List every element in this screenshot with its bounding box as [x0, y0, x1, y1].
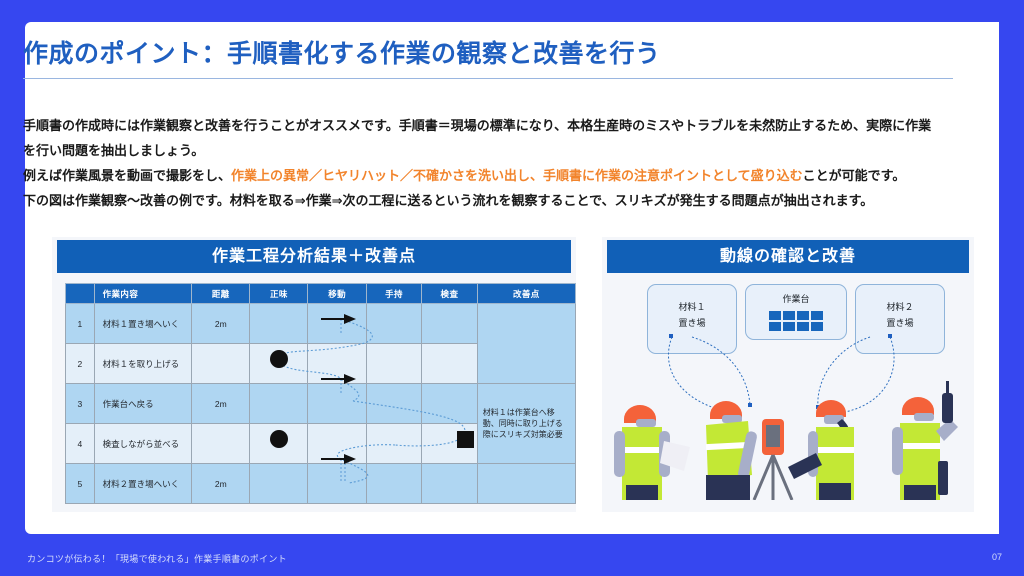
cell-inspect — [422, 424, 477, 464]
title-divider — [23, 78, 953, 79]
cell-task: 材料２置き場へいく — [94, 464, 192, 504]
process-analysis-table: 作業内容 距離 正味 移動 手持 検査 改善点 1 材料１置き場へいく 2m — [65, 283, 576, 504]
table-row: 1 材料１置き場へいく 2m — [66, 304, 576, 344]
cell-inspect — [422, 464, 477, 504]
cell-move — [308, 304, 366, 344]
cell-hold — [366, 384, 421, 424]
cell-hold — [366, 424, 421, 464]
paragraph-3: 例えば作業風景を動画で撮影をし、作業上の異常／ヒヤリハット／不確かさを洗い出し、… — [23, 163, 959, 188]
slide-root: 作成のポイント：手順書化する作業の観察と改善を行う 手順書の作成時には作業観察と… — [0, 0, 1024, 576]
worker-with-radio-icon — [892, 381, 958, 500]
movement-node — [888, 334, 892, 338]
table-header-row: 作業内容 距離 正味 移動 手持 検査 改善点 — [66, 284, 576, 304]
cell-move — [308, 464, 366, 504]
cell-net — [250, 464, 308, 504]
footer-title: カンコツが伝わる！「現場で使われる」作業手順書のポイント — [27, 552, 287, 565]
cell-move — [308, 424, 366, 464]
cell-no: 5 — [66, 464, 95, 504]
page-title: 作成のポイント：手順書化する作業の観察と改善を行う — [23, 38, 953, 72]
cell-move — [308, 384, 366, 424]
col-inspect: 検査 — [422, 284, 477, 304]
cell-no: 3 — [66, 384, 95, 424]
col-improvement: 改善点 — [477, 284, 575, 304]
paragraph-2: を行い問題を抽出しましょう。 — [23, 138, 959, 163]
cell-task: 検査しながら並べる — [94, 424, 192, 464]
footer-page-number: 07 — [992, 552, 1002, 562]
worker-with-tablet-icon — [788, 400, 854, 500]
panel-process-analysis: 作業工程分析結果＋改善点 作業内容 距離 正味 移動 手持 検査 改善点 1 材… — [52, 237, 576, 512]
cell-distance: 2m — [192, 304, 250, 344]
cell-net — [250, 304, 308, 344]
page-title-block: 作成のポイント：手順書化する作業の観察と改善を行う — [23, 38, 953, 79]
cell-distance: 2m — [192, 464, 250, 504]
worker-surveying-icon — [706, 401, 792, 500]
col-no — [66, 284, 95, 304]
cell-distance — [192, 344, 250, 384]
panel-process-analysis-heading: 作業工程分析結果＋改善点 — [57, 240, 571, 273]
cell-no: 4 — [66, 424, 95, 464]
col-move: 移動 — [308, 284, 366, 304]
workers-illustration — [602, 375, 974, 500]
paragraph-3-highlight: 作業上の異常／ヒヤリハット／不確かさを洗い出し、手順書に作業の注意ポイントとして… — [231, 168, 803, 183]
table-row: 5 材料２置き場へいく 2m — [66, 464, 576, 504]
col-net: 正味 — [250, 284, 308, 304]
col-task: 作業内容 — [94, 284, 192, 304]
cell-improvement — [477, 304, 575, 384]
paragraph-3-pre: 例えば作業風景を動画で撮影をし、 — [23, 168, 231, 183]
cell-task: 作業台へ戻る — [94, 384, 192, 424]
cell-hold — [366, 344, 421, 384]
cell-no: 2 — [66, 344, 95, 384]
cell-move — [308, 344, 366, 384]
paragraph-4: 下の図は作業観察〜改善の例です。材料を取る⇒作業⇒次の工程に送るという流れを観察… — [23, 188, 959, 213]
table-body: 1 材料１置き場へいく 2m 2 材料１を取り上げる — [66, 304, 576, 504]
cell-inspect — [422, 384, 477, 424]
paragraph-1: 手順書の作成時には作業観察と改善を行うことがオススメです。手順書＝現場の標準にな… — [23, 113, 959, 138]
cell-distance — [192, 424, 250, 464]
cell-hold — [366, 304, 421, 344]
cell-net — [250, 344, 308, 384]
col-distance: 距離 — [192, 284, 250, 304]
panel-flow-line: 動線の確認と改善 材料１ 置き場 作業台 材料２ 置き場 — [602, 237, 974, 512]
table-row: 3 作業台へ戻る 2m 材料１は作業台へ移動、同時に取り上げる際にスリキズ対策必… — [66, 384, 576, 424]
cell-improvement: 材料１は作業台へ移動、同時に取り上げる際にスリキズ対策必要 — [477, 384, 575, 464]
paragraph-3-post: ことが可能です。 — [803, 168, 906, 183]
cell-net — [250, 384, 308, 424]
cell-task: 材料１置き場へいく — [94, 304, 192, 344]
cell-inspect — [422, 344, 477, 384]
cell-improvement — [477, 464, 575, 504]
body-paragraphs: 手順書の作成時には作業観察と改善を行うことがオススメです。手順書＝現場の標準にな… — [23, 113, 959, 213]
col-hold: 手持 — [366, 284, 421, 304]
cell-net — [250, 424, 308, 464]
cell-inspect — [422, 304, 477, 344]
cell-hold — [366, 464, 421, 504]
cell-distance: 2m — [192, 384, 250, 424]
worker-with-blueprint-icon — [614, 405, 690, 500]
movement-node — [669, 334, 673, 338]
cell-task: 材料１を取り上げる — [94, 344, 192, 384]
cell-no: 1 — [66, 304, 95, 344]
